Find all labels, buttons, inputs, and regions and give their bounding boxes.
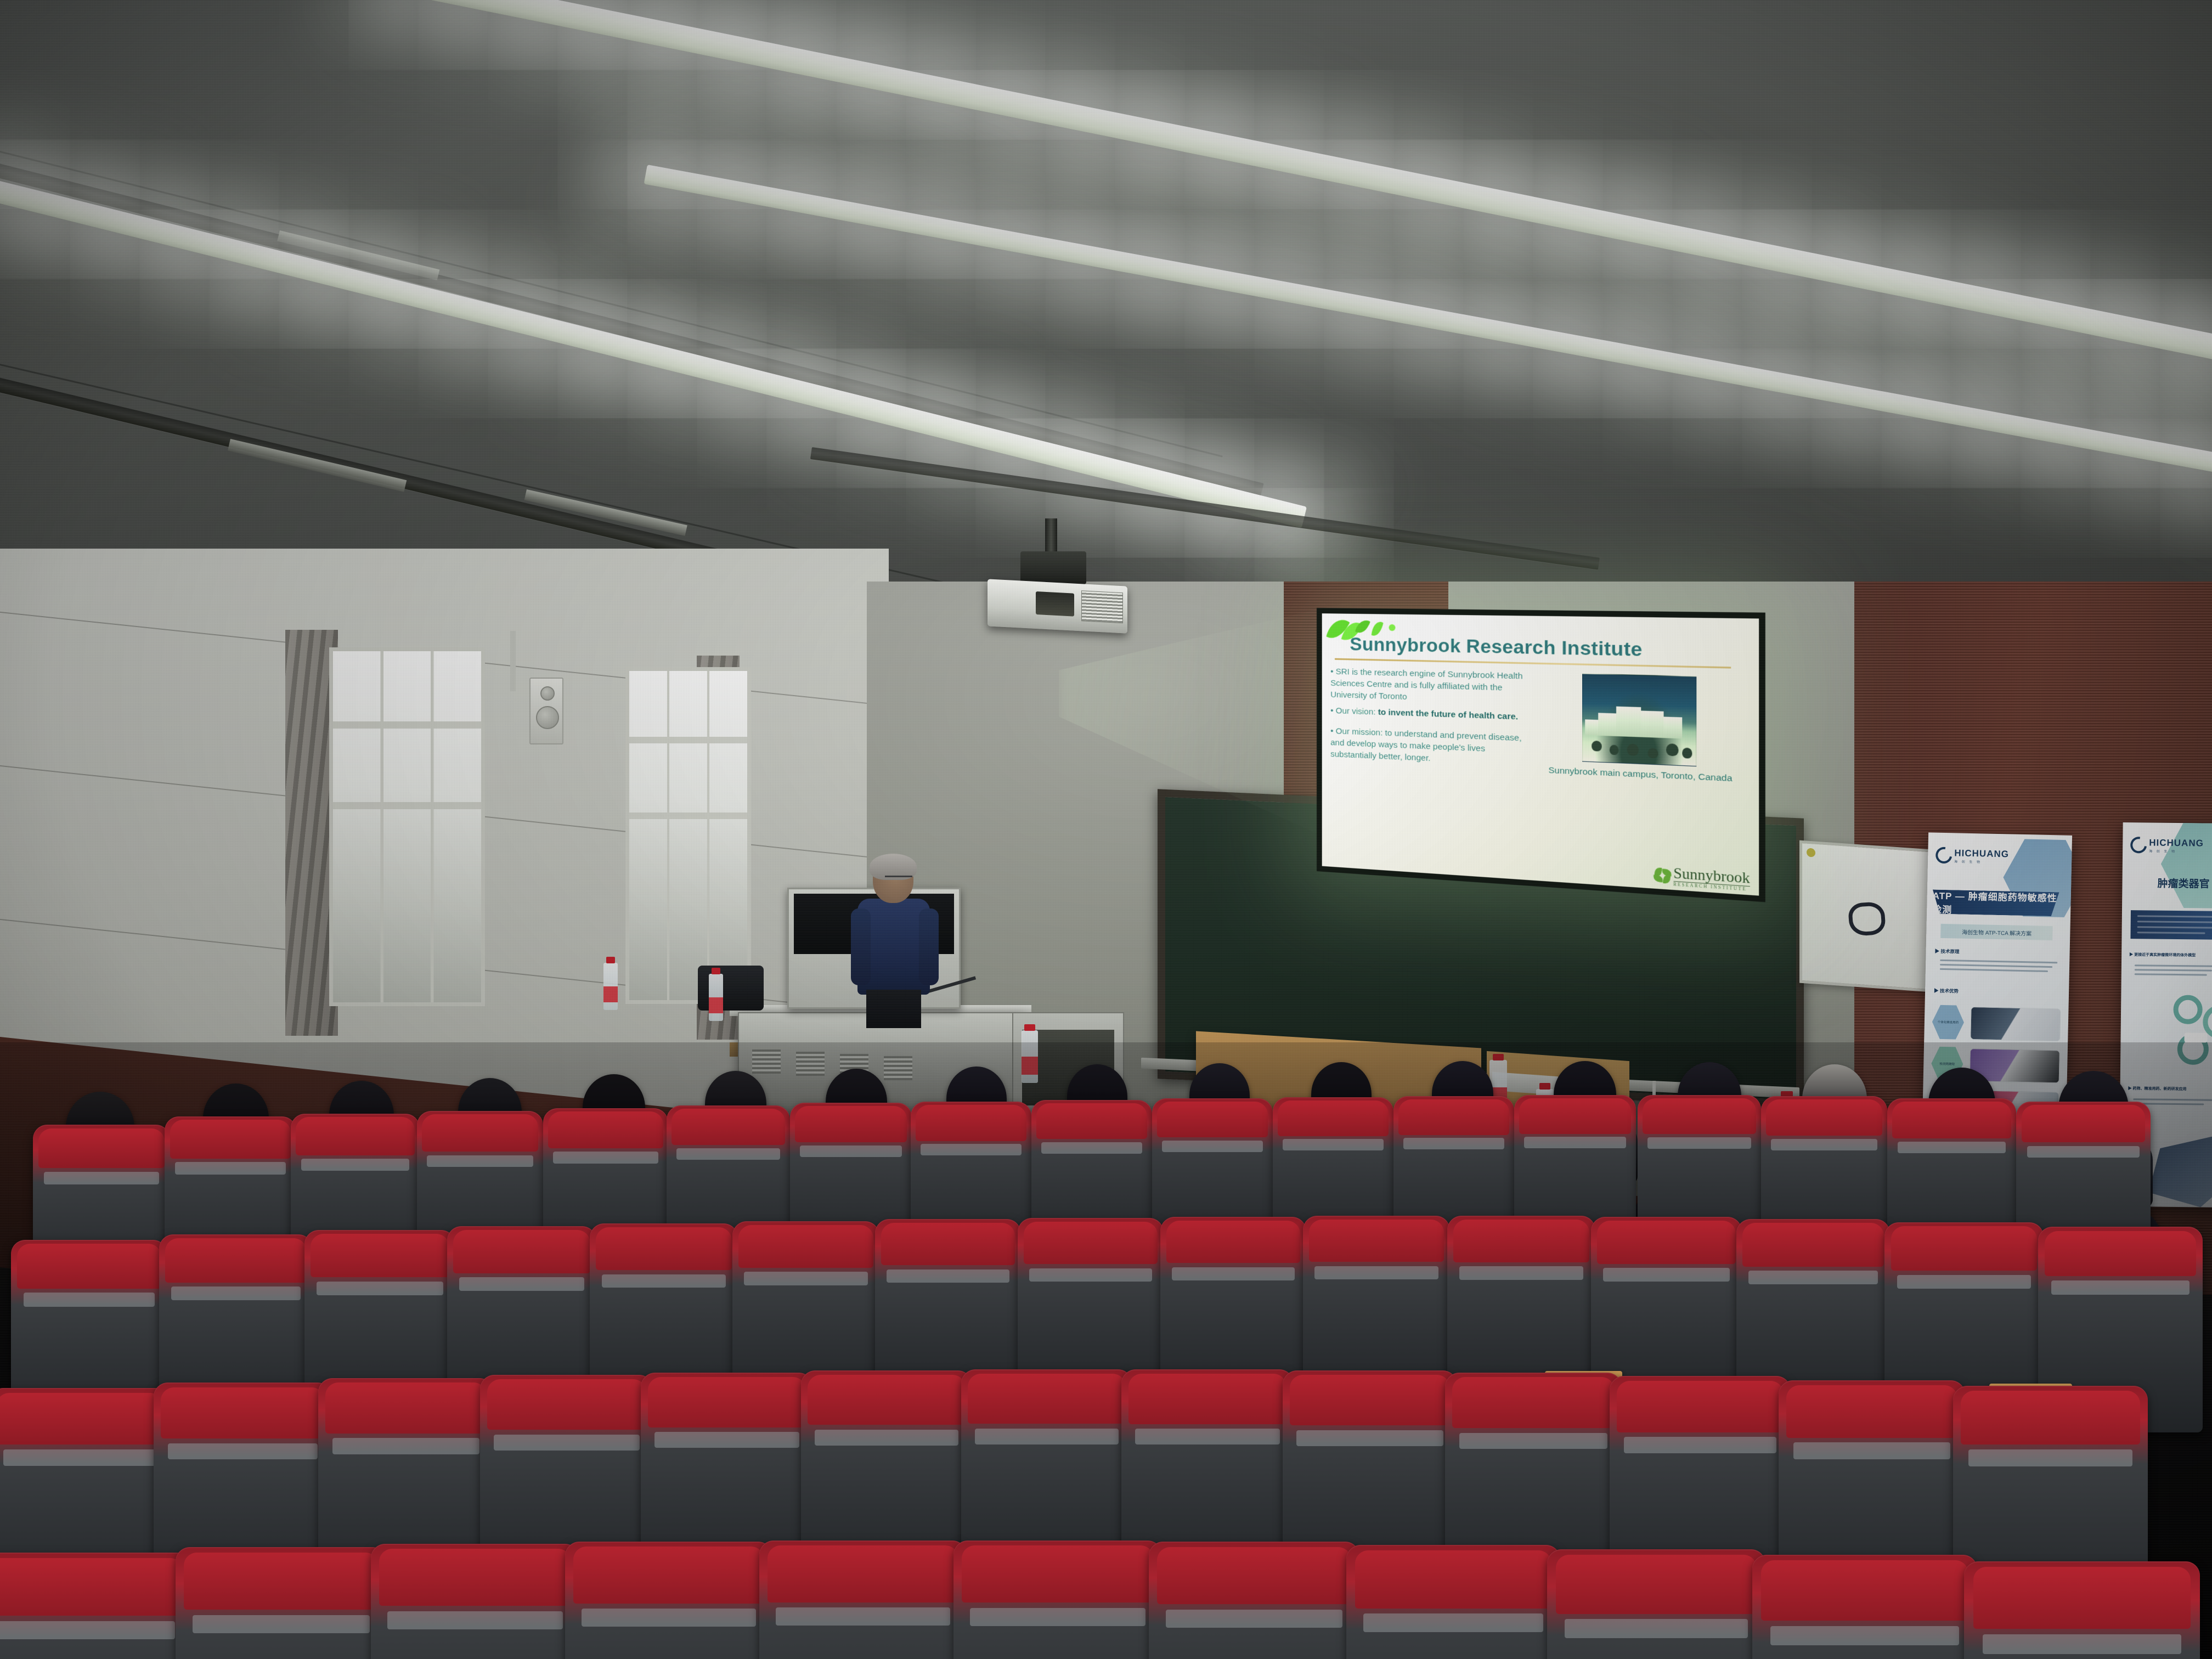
seat-band (2051, 1280, 2190, 1295)
seat-headrest (768, 1545, 958, 1602)
seat-headrest (1128, 1374, 1287, 1424)
seat-band (1968, 1449, 2132, 1466)
seat-headrest (325, 1383, 487, 1433)
seat-band (3, 1449, 155, 1466)
seat-headrest (1036, 1103, 1147, 1139)
auditorium-seat[interactable] (953, 1541, 1162, 1659)
seat-headrest (161, 1387, 325, 1439)
auditorium-seat[interactable] (1149, 1542, 1359, 1659)
auditorium-seat[interactable] (176, 1547, 387, 1659)
seat-headrest (2022, 1105, 2145, 1142)
seat-headrest (296, 1117, 414, 1155)
seat-headrest (311, 1234, 449, 1277)
seat-headrest (1617, 1381, 1784, 1432)
presenter-arm (919, 909, 939, 985)
hichuang-ring-icon (1932, 844, 1955, 867)
seat-headrest (165, 1238, 307, 1282)
seat-headrest (1891, 1226, 2038, 1271)
seat-band (676, 1148, 780, 1160)
banner-brand: HICHUANG (2149, 837, 2204, 849)
seat-band (301, 1159, 409, 1171)
seat-headrest (379, 1549, 571, 1606)
seat-band (1897, 1275, 2031, 1289)
slide-bullet-1: • SRI is the research engine of Sunnybro… (1330, 667, 1527, 707)
seat-band (1166, 1610, 1343, 1628)
seat-headrest (1452, 1377, 1615, 1428)
seat-headrest (1742, 1223, 1884, 1267)
presenter-legs (866, 990, 921, 1028)
slide-vision-bold: to invent the future of health care. (1378, 708, 1518, 722)
banner-image-cell (1970, 1007, 2061, 1041)
seat-band (1363, 1613, 1543, 1632)
seat-band (921, 1144, 1022, 1155)
seat-headrest (808, 1375, 965, 1425)
seat-headrest (1453, 1220, 1589, 1262)
auditorium-seat[interactable] (565, 1542, 772, 1659)
seat-headrest (1290, 1375, 1451, 1425)
banner-hex-label: 个体化精准用药 (1932, 1004, 1964, 1041)
hichuang-logo-right: HICHUANG 海 创 生 物 (2130, 837, 2204, 854)
projector-lens (1036, 591, 1074, 617)
seat-headrest (916, 1105, 1026, 1141)
ceiling-strip-light (644, 165, 2212, 479)
auditorium-seat[interactable] (0, 1553, 192, 1659)
banner-headline: ATP — 肿瘤细胞药物敏感性检测 (1932, 890, 2059, 917)
slide-mission: • Our mission: to understand and prevent… (1330, 726, 1527, 769)
seat-band (2027, 1146, 2140, 1158)
sunnybrook-logo: Sunnybrook RESEARCH INSTITUTE (1654, 865, 1750, 891)
seat-band (1983, 1634, 2181, 1654)
seat-band (1771, 1139, 1877, 1150)
seat-headrest (968, 1374, 1125, 1424)
seat-headrest (738, 1225, 874, 1268)
seat-headrest (648, 1377, 806, 1427)
seat-band (1647, 1137, 1751, 1149)
seat-headrest (1278, 1101, 1389, 1136)
wall-speaker (529, 678, 563, 744)
hichuang-logo-left: HICHUANG 海 创 生 物 (1936, 847, 2009, 865)
seat-band (1041, 1142, 1143, 1154)
auditorium-seat[interactable] (1964, 1561, 2200, 1659)
auditorium-seat[interactable] (759, 1541, 967, 1659)
auditorium-seat[interactable] (371, 1544, 579, 1659)
seat-headrest (672, 1109, 785, 1145)
banner-section-1: ▶ 更接近于真实肿瘤微环境的体外模型 (2129, 952, 2196, 958)
seat-headrest (1761, 1560, 1968, 1621)
seat-band (744, 1272, 867, 1285)
auditorium-seat[interactable] (1346, 1545, 1560, 1659)
seat-band (459, 1277, 585, 1291)
slide-title: Sunnybrook Research Institute (1350, 634, 1748, 663)
slide-bullet-2: • Our vision: (1330, 706, 1375, 717)
seat-band (494, 1435, 639, 1451)
seat-band (1770, 1626, 1959, 1645)
seat-band (1524, 1137, 1627, 1148)
seat-band (387, 1611, 562, 1629)
seat-band (1624, 1437, 1776, 1453)
seat-band (815, 1430, 958, 1446)
hichuang-ring-icon (2127, 833, 2150, 856)
seat-headrest (795, 1106, 907, 1142)
auditorium-seat[interactable] (1547, 1549, 1765, 1659)
seat-band (168, 1443, 318, 1460)
seat-headrest (170, 1120, 291, 1158)
seat-headrest (573, 1547, 764, 1603)
seat-headrest (184, 1553, 378, 1610)
seat-headrest (1786, 1385, 1958, 1438)
banner-headline: 肿瘤类器官 (2157, 876, 2209, 891)
seat-band (1603, 1268, 1730, 1282)
seat-headrest (1519, 1098, 1631, 1134)
presenter (853, 856, 935, 1026)
banner-text-block (2130, 910, 2212, 940)
laptop-bag (698, 966, 764, 1011)
seat-headrest (1024, 1222, 1158, 1264)
seat-band (800, 1145, 902, 1157)
seat-headrest (1766, 1099, 1882, 1136)
seat-band (1459, 1433, 1608, 1449)
seat-band (970, 1608, 1145, 1626)
seat-headrest (487, 1379, 647, 1430)
lecture-hall-photo: Sunnybrook Research Institute • SRI is t… (0, 0, 2212, 1659)
seat-headrest (962, 1545, 1154, 1602)
banner-paragraph (2135, 962, 2212, 979)
seat-headrest (1892, 1102, 2011, 1138)
seat-headrest (1961, 1391, 2140, 1444)
seat-band (1162, 1141, 1263, 1152)
seat-headrest (422, 1114, 538, 1152)
window-left (329, 647, 485, 1006)
seat-band (317, 1282, 443, 1295)
seat-band (1283, 1139, 1384, 1150)
seat-band (44, 1172, 159, 1184)
presenter-arm (851, 909, 871, 985)
seat-band (1748, 1271, 1877, 1284)
presentation-slide: Sunnybrook Research Institute • SRI is t… (1322, 613, 1759, 896)
seat-band (1172, 1267, 1294, 1281)
banner-section-1: ▶ 技术原理 (1934, 948, 1959, 955)
window-right (625, 667, 751, 1004)
seat-headrest (1157, 1547, 1351, 1605)
seat-headrest (0, 1393, 163, 1445)
ceiling (0, 0, 2212, 636)
seat-band (175, 1162, 286, 1174)
seat-band (1793, 1442, 1950, 1459)
seat-headrest (1166, 1221, 1301, 1263)
seat-headrest (1157, 1102, 1268, 1137)
seat-band (1898, 1142, 2006, 1153)
seat-band (171, 1286, 300, 1301)
seat-band (602, 1274, 726, 1288)
projector-mount-bracket (1020, 551, 1086, 584)
projector-vent (1081, 590, 1123, 623)
seat-band (1314, 1266, 1438, 1280)
seat-band (1459, 1266, 1584, 1280)
banner-brand: HICHUANG (1954, 848, 2009, 860)
seat-band (1029, 1268, 1152, 1282)
seat-headrest (2045, 1231, 2196, 1277)
auditorium-seat[interactable] (1752, 1555, 1977, 1659)
seat-band (427, 1155, 533, 1167)
presenter-glasses (885, 876, 912, 883)
seat-headrest (0, 1558, 183, 1616)
banner-paragraph (1940, 957, 2058, 975)
seat-band (1296, 1430, 1443, 1446)
slide-photo-column: Sunnybrook main campus, Toronto, Canada (1533, 671, 1749, 786)
seat-headrest (1643, 1098, 1756, 1134)
clover-leaf-icon (1654, 867, 1670, 884)
seat-headrest (1597, 1221, 1736, 1264)
seat-band (0, 1621, 175, 1640)
seat-headrest (881, 1223, 1015, 1265)
seat-headrest (453, 1230, 590, 1273)
seat-headrest (1398, 1099, 1509, 1135)
seat-band (24, 1293, 155, 1307)
seat-band (582, 1609, 756, 1627)
seat-band (975, 1429, 1119, 1444)
seat-headrest (548, 1111, 663, 1148)
seat-band (1565, 1619, 1748, 1638)
wall-conduit (510, 631, 516, 691)
seat-band (654, 1432, 799, 1448)
seat-headrest (1355, 1550, 1552, 1609)
ceiling-light-channel (810, 447, 1600, 570)
banner-section-2: ▶ 技术优势 (1934, 988, 1959, 995)
seat-headrest (1556, 1555, 1757, 1614)
seat-band (776, 1607, 950, 1626)
banner-subhead: 海创生物 ATP-TCA 解决方案 (1940, 924, 2053, 940)
seat-headrest (1309, 1220, 1444, 1262)
banner-brand-sub: 海 创 生 物 (2149, 848, 2204, 854)
seat-band (193, 1615, 370, 1633)
seat-band (553, 1152, 658, 1163)
campus-photo-caption: Sunnybrook main campus, Toronto, Canada (1533, 764, 1749, 786)
seat-band (887, 1269, 1009, 1283)
campus-photo (1582, 673, 1697, 766)
ceiling-projector (988, 579, 1127, 633)
seat-headrest (38, 1128, 165, 1169)
audience-seating (0, 1059, 2212, 1659)
seat-band (332, 1438, 480, 1454)
seat-headrest (596, 1227, 732, 1270)
ceiling-vent-grille (228, 439, 407, 492)
seat-band (1135, 1429, 1280, 1444)
seat-headrest (1973, 1567, 2191, 1629)
seat-band (1403, 1138, 1505, 1149)
seat-headrest (17, 1244, 161, 1288)
slide-bullet-column: • SRI is the research engine of Sunnybro… (1330, 667, 1527, 776)
projection-screen: Sunnybrook Research Institute • SRI is t… (1317, 608, 1765, 902)
